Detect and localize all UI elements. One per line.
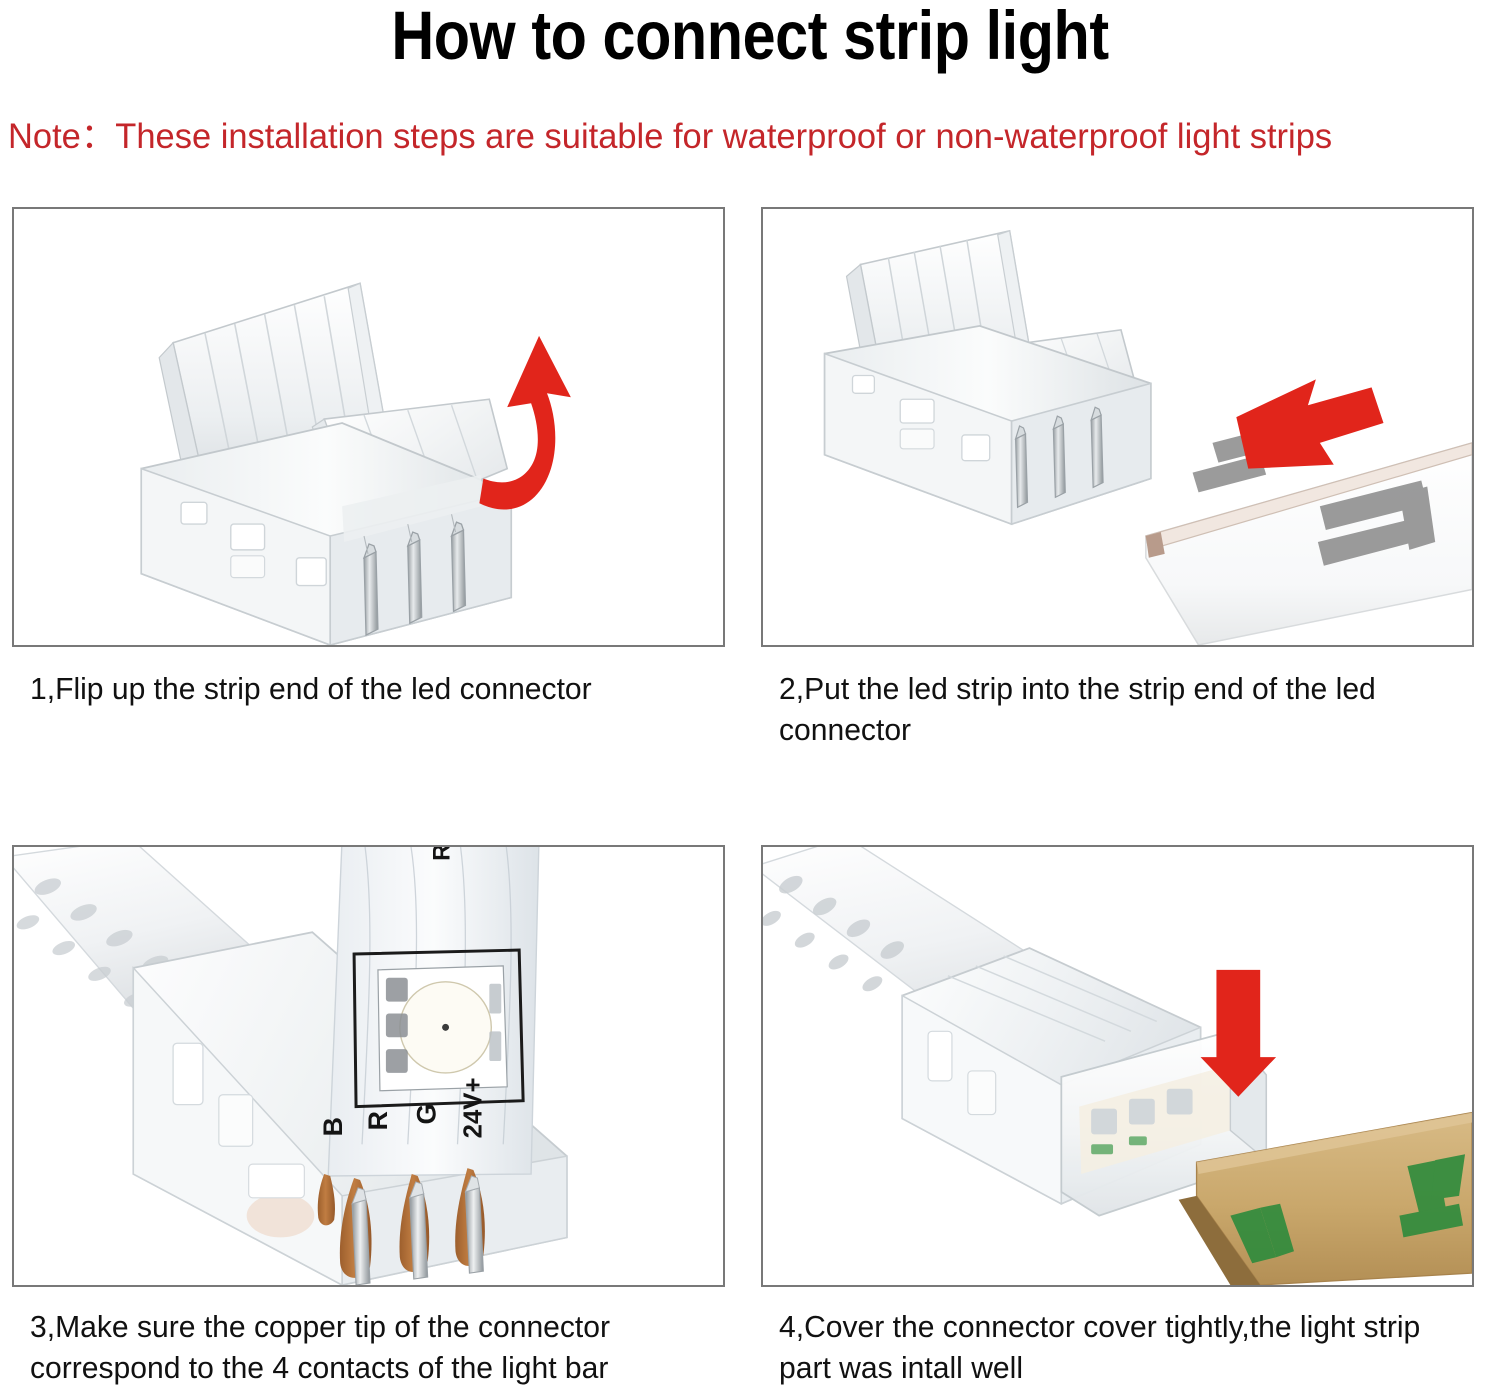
connector-closed-illustration <box>763 847 1472 1285</box>
note-text: Note：These installation steps are suitab… <box>8 108 1332 159</box>
step-4-image-panel <box>761 845 1474 1287</box>
led-chip <box>354 950 523 1107</box>
led-connector-open-illustration <box>14 209 723 645</box>
step-3-image-panel: B R G 24V+ R <box>12 845 725 1287</box>
step-1-image-panel <box>12 207 725 647</box>
strip-label-b: B <box>318 1117 348 1136</box>
strip-label-r: R <box>363 1111 393 1130</box>
strip-label-24v: 24V+ <box>459 1077 487 1138</box>
led-connector-with-strip-illustration <box>763 209 1472 645</box>
step-4-caption: 4,Cover the connector cover tightly,the … <box>779 1306 1470 1388</box>
step-2-caption: 2,Put the led strip into the strip end o… <box>779 668 1458 750</box>
strip-label-g: G <box>412 1104 442 1125</box>
step-2-image-panel <box>761 207 1474 647</box>
straight-arrow-up-left-icon <box>1236 379 1383 468</box>
strip-label-r-top: R <box>429 847 456 861</box>
page-title: How to connect strip light <box>105 0 1395 75</box>
step-1-caption: 1,Flip up the strip end of the led conne… <box>30 668 699 709</box>
connector-copper-contacts-illustration: B R G 24V+ R <box>14 847 723 1285</box>
step-3-caption: 3,Make sure the copper tip of the connec… <box>30 1306 699 1388</box>
